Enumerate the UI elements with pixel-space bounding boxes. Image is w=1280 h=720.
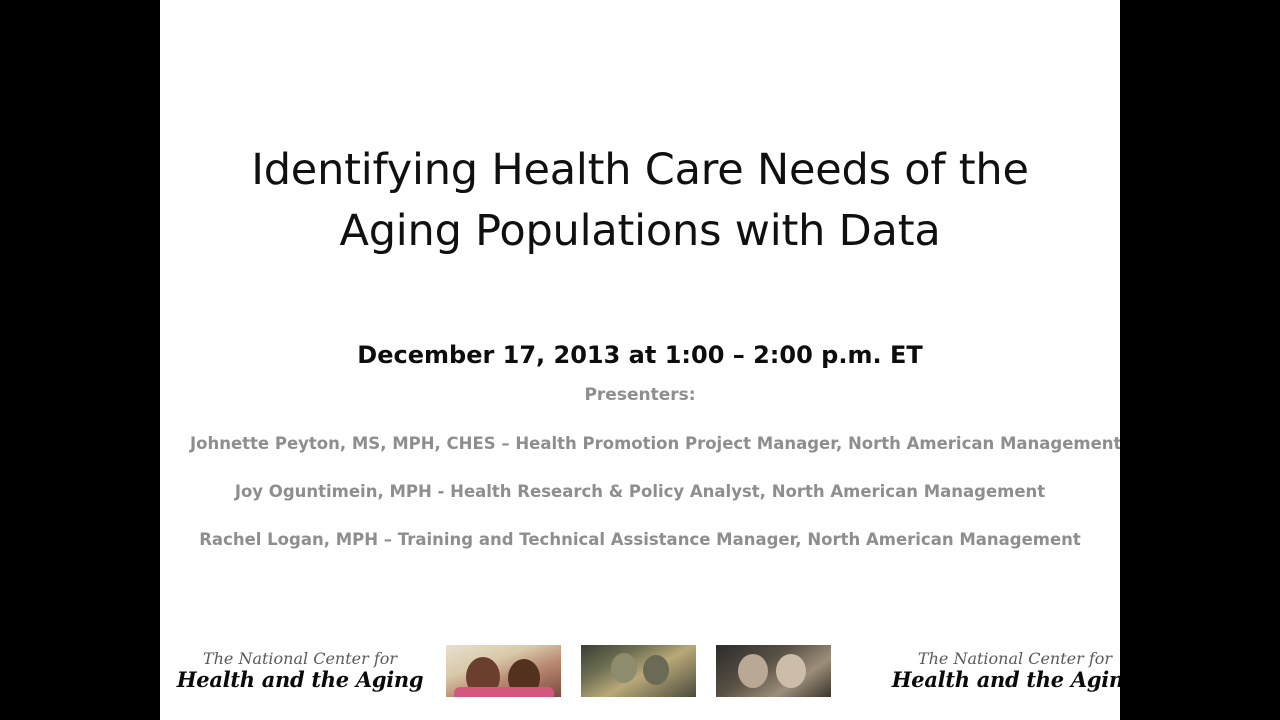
presenter-name-1: Johnette Peyton, MS, MPH, CHES – Health … <box>190 434 1090 453</box>
presenter-name-3: Rachel Logan, MPH – Training and Technic… <box>190 530 1090 549</box>
figure-shape <box>454 687 554 697</box>
presentation-slide: Identifying Health Care Needs of the Agi… <box>160 0 1120 720</box>
slide-title: Identifying Health Care Needs of the Agi… <box>220 140 1060 262</box>
figure-shape <box>738 654 768 688</box>
pillarbox-right <box>1120 0 1280 720</box>
logo-right-line2: Health and the Aging <box>885 668 1120 692</box>
pillarbox-left <box>0 0 160 720</box>
photo-elderly-couple <box>716 645 831 697</box>
figure-shape <box>776 654 806 688</box>
logo-left-line2: Health and the Aging <box>170 668 430 692</box>
presenters-label: Presenters: <box>220 385 1060 405</box>
logo-left: The National Center for Health and the A… <box>170 650 430 692</box>
photo-strip <box>446 645 832 697</box>
video-stage: Identifying Health Care Needs of the Agi… <box>0 0 1280 720</box>
figure-shape <box>643 655 669 685</box>
logo-left-line1: The National Center for <box>170 650 430 668</box>
logo-right: The National Center for Health and the A… <box>885 650 1120 692</box>
slide-datetime: December 17, 2013 at 1:00 – 2:00 p.m. ET <box>220 341 1060 369</box>
photo-two-smiling-women <box>446 645 561 697</box>
figure-shape <box>611 653 637 683</box>
photo-couple-on-bench <box>581 645 696 697</box>
logo-right-line1: The National Center for <box>885 650 1120 668</box>
presenter-name-2: Joy Oguntimein, MPH - Health Research & … <box>190 482 1090 501</box>
